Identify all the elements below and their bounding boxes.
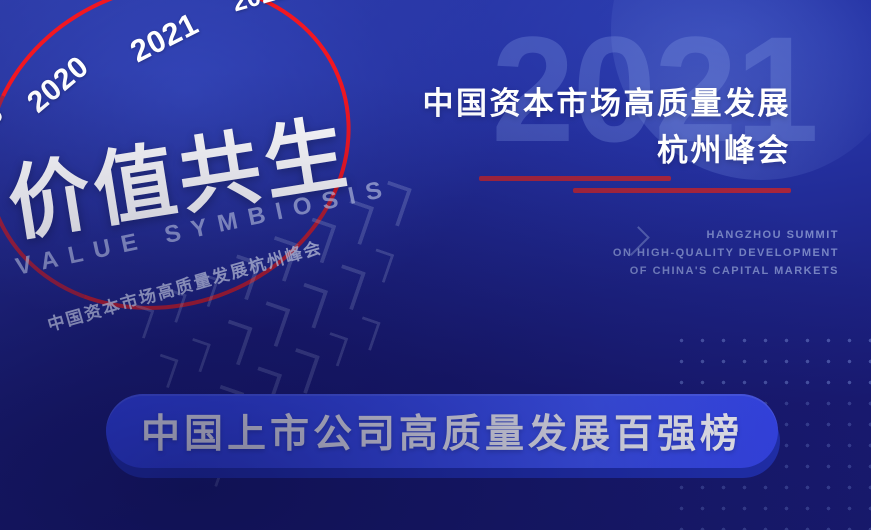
chevron-right-icon: [375, 181, 412, 227]
headline-block: 中国资本市场高质量发展 杭州峰会: [423, 80, 792, 174]
logo-arc-ring-secondary: [0, 0, 400, 364]
dot-grid-pattern-top: [671, 330, 871, 390]
chevron-right-icon: [183, 338, 211, 373]
logo-arc-ring: [0, 0, 400, 364]
chevron-right-icon: [353, 316, 381, 351]
cta-button-label: 中国上市公司高质量发展百强榜: [141, 403, 743, 459]
headline-subtitle-english: HANGZHOU SUMMIT ON HIGH-QUALITY DEVELOPM…: [613, 226, 839, 280]
chevron-right-icon: [159, 288, 187, 323]
chevron-right-icon: [127, 304, 155, 339]
headline-line-1: 中国资本市场高质量发展: [423, 80, 792, 127]
chevron-right-icon: [192, 273, 220, 308]
chevron-right-icon: [151, 354, 179, 389]
cta-button[interactable]: 中国上市公司高质量发展百强榜: [106, 394, 778, 468]
chevron-right-icon: [300, 217, 337, 263]
headline-rule-lower: [573, 188, 791, 193]
chevron-right-icon: [216, 320, 253, 366]
chevron-right-icon: [321, 332, 349, 367]
chevron-right-icon: [338, 199, 375, 245]
background-glow: [0, 0, 575, 392]
year-label-2020: 2020: [21, 50, 96, 120]
year-label-2019: 2019: [0, 99, 11, 165]
chevron-right-icon: [262, 236, 299, 282]
headline-line-2: 杭州峰会: [423, 127, 792, 174]
chevron-right-icon: [224, 254, 261, 300]
headline-rule-upper: [479, 176, 671, 181]
summit-banner: 2021 HANGZHOU SUMMIT ON QU DEVELOPMENT O…: [0, 0, 871, 530]
chevron-right-icon: [292, 283, 329, 329]
year-label-2022: 2022: [229, 0, 292, 18]
year-label-2021: 2021: [125, 6, 205, 70]
chevron-right-icon: [254, 301, 291, 347]
chevron-right-icon: [329, 264, 366, 310]
logo-wordmark-chinese: 价值共生: [0, 86, 357, 257]
mirrored-english-text-1: HANGZHOU SUMMIT ON QU: [0, 0, 263, 15]
year-label-2017: 2017: [0, 0, 7, 13]
logo-tagline: 中国资本市场高质量发展杭州峰会: [44, 233, 325, 336]
mirrored-english-text-2: DEVELOPMENT OF A'S CAPITAL MAR: [0, 0, 228, 33]
summit-logo: HANGZHOU SUMMIT ON QU DEVELOPMENT OF A'S…: [0, 0, 424, 372]
chevron-right-icon: [367, 248, 395, 283]
logo-wordmark-english: VALUE SYMBIOSIS: [13, 174, 395, 281]
chevron-right-icon: [283, 348, 320, 394]
